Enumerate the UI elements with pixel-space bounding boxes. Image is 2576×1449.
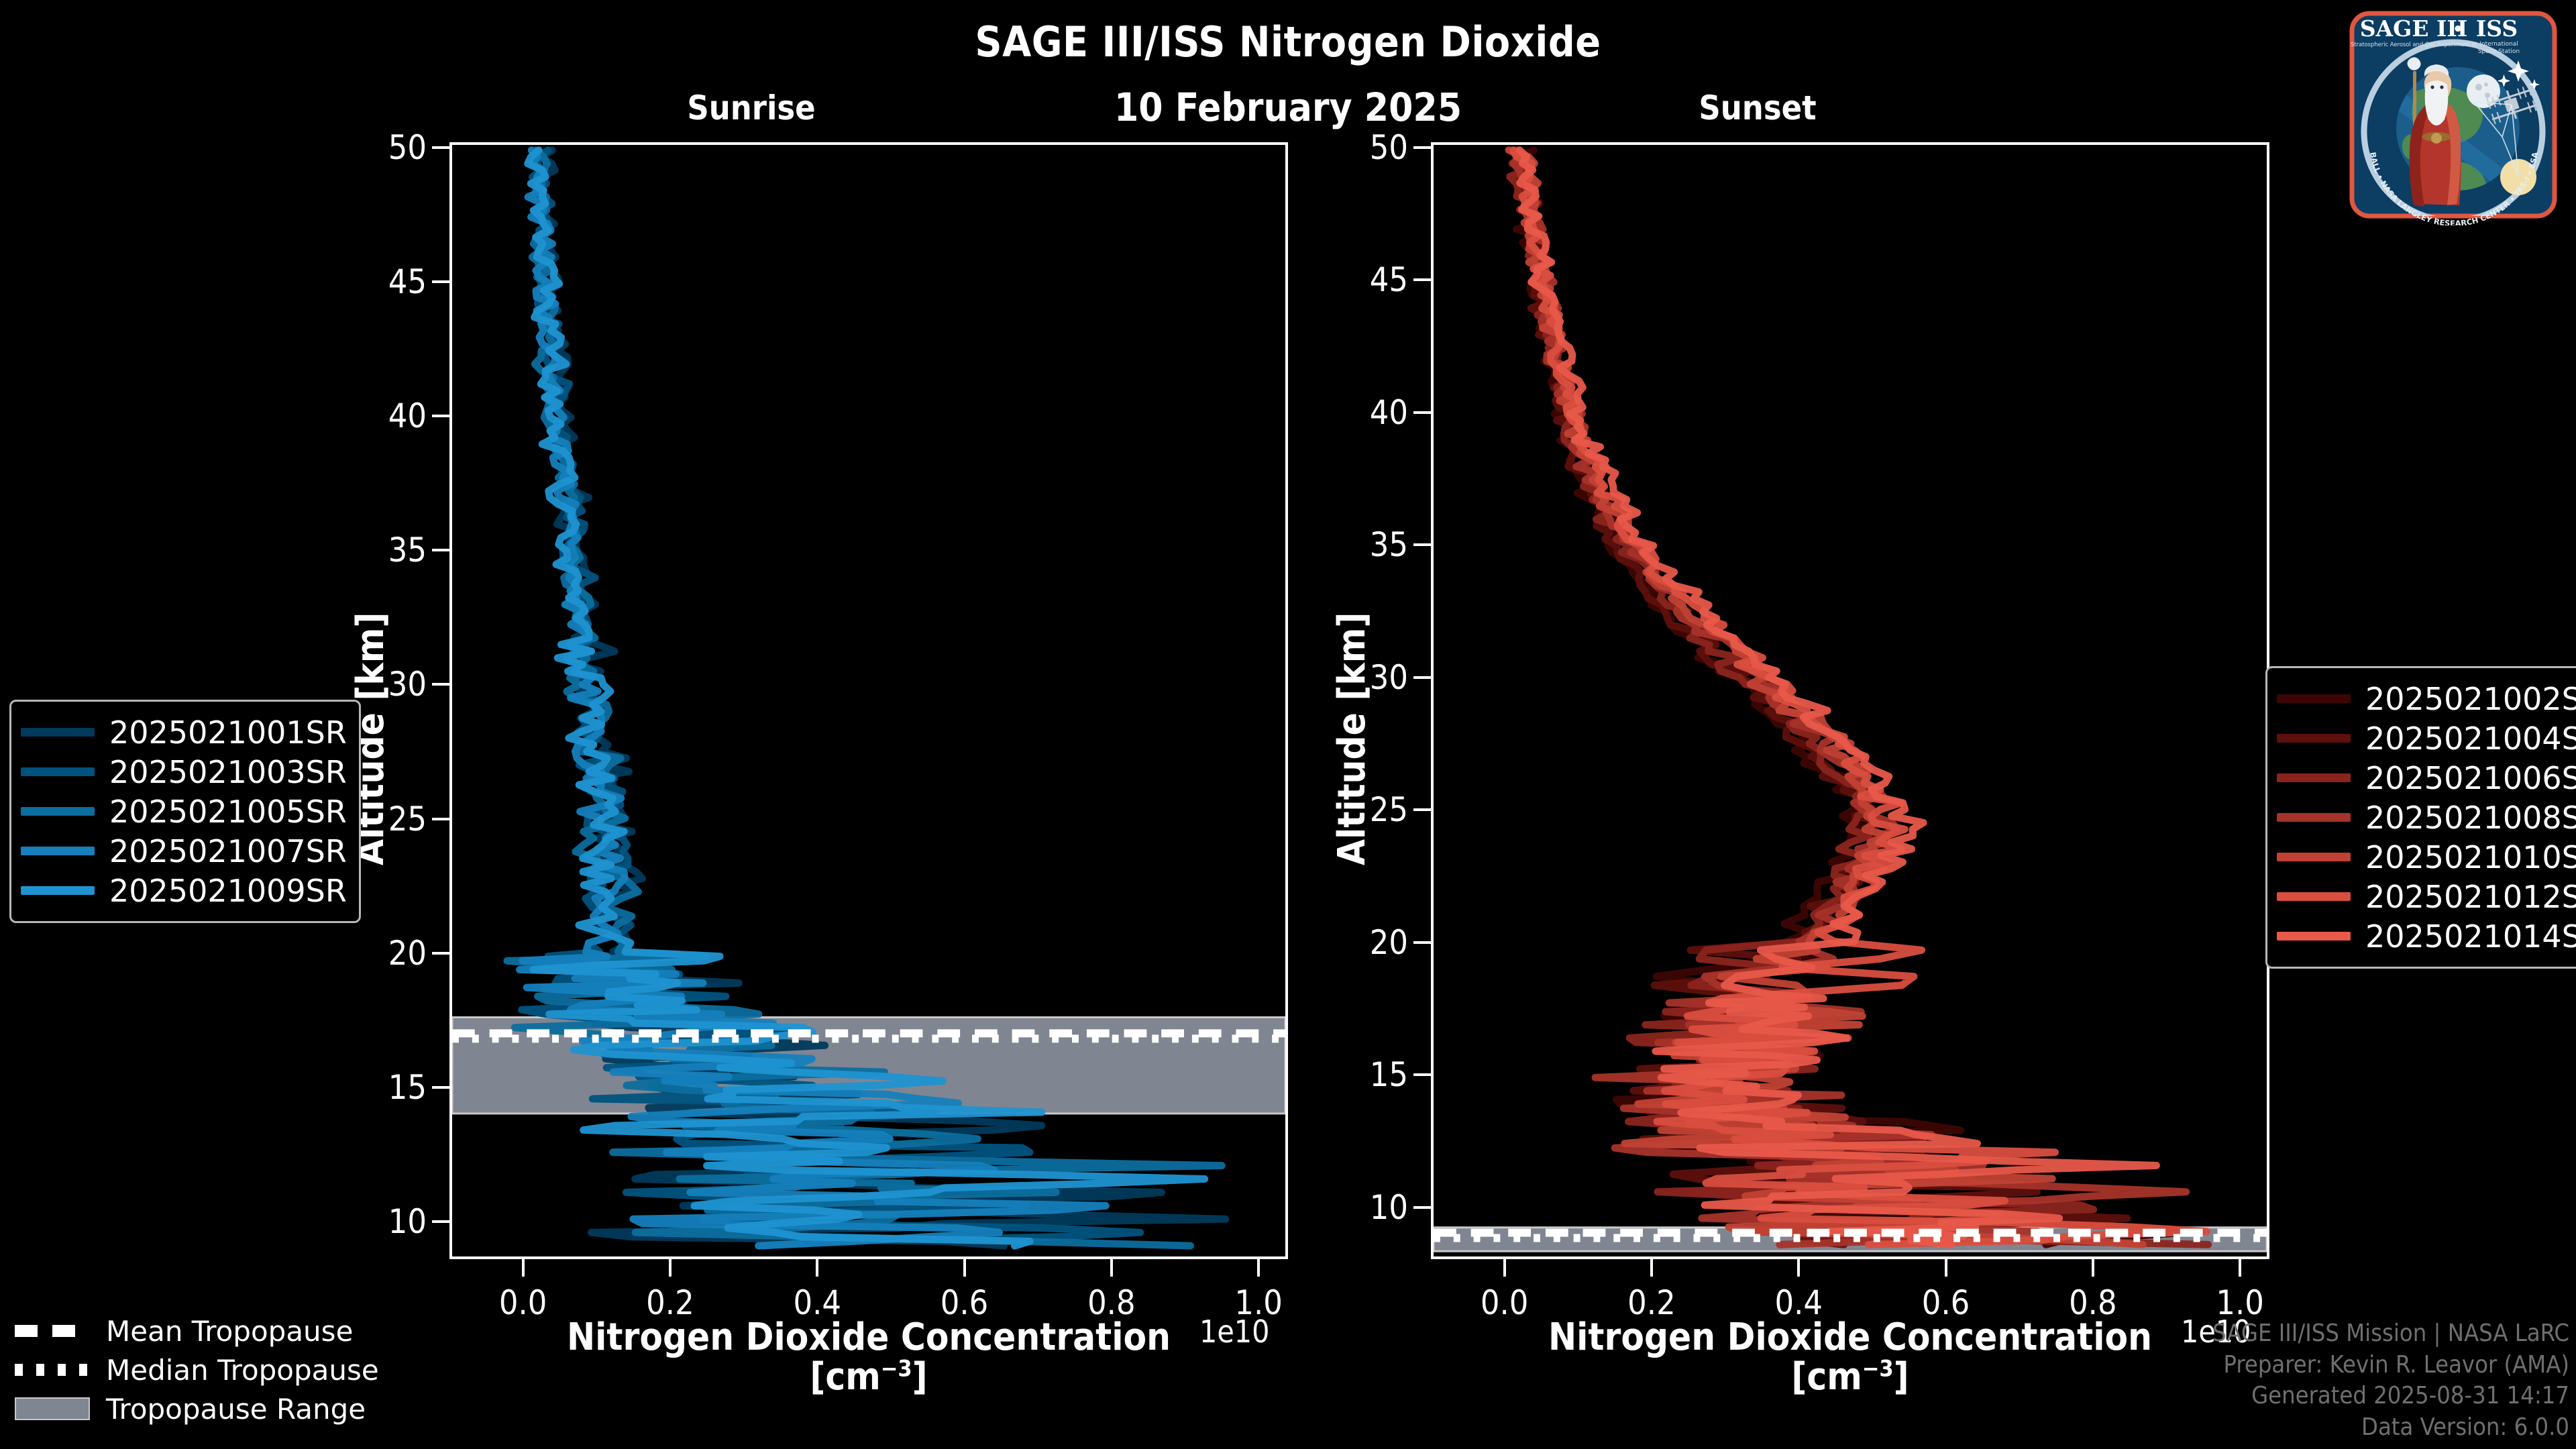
y-tick <box>432 1220 449 1223</box>
y-tick <box>432 1086 449 1089</box>
sunrise-x-axis-units: [cm−3] <box>810 1355 927 1399</box>
y-tick <box>1413 278 1431 281</box>
x-tick-label: 0.0 <box>499 1283 547 1322</box>
x-tick <box>963 1259 966 1277</box>
svg-text:•: • <box>2453 19 2464 40</box>
x-tick <box>2092 1259 2094 1277</box>
sunrise-subtitle: Sunrise <box>631 89 872 127</box>
legend-item[interactable]: 2025021012SS <box>2277 877 2576 916</box>
legend-item-label: 2025021009SR <box>109 873 347 909</box>
y-tick-label: 35 <box>1370 525 1408 564</box>
legend-item[interactable]: 2025021004SS <box>2277 718 2576 758</box>
y-tick-label: 30 <box>388 665 427 704</box>
x-tick <box>816 1259 818 1277</box>
y-tick-label: 15 <box>388 1068 427 1107</box>
legend-item-label: 2025021003SR <box>109 754 347 790</box>
svg-text:ISS: ISS <box>2476 15 2518 42</box>
y-tick <box>1413 941 1431 944</box>
legend-item[interactable]: 2025021002SS <box>2277 679 2576 718</box>
tropopause-band-swatch <box>15 1397 90 1420</box>
tropopause-legend[interactable]: Mean Tropopause Median Tropopause Tropop… <box>15 1311 379 1428</box>
y-tick <box>1413 411 1431 414</box>
sunrise-x-axis-label: Nitrogen Dioxide Concentration [cm−3] <box>449 1318 1288 1397</box>
legend-item-label: 2025021002SS <box>2365 681 2576 717</box>
legend-color-swatch <box>21 728 95 737</box>
legend-item[interactable]: 2025021001SR <box>21 712 347 752</box>
sunset-axis-ticks: 10 15 20 25 30 35 40 45 50 0.0 0.2 0.4 0… <box>1431 142 2269 1259</box>
x-tick <box>1110 1259 1113 1277</box>
y-tick <box>432 952 449 955</box>
legend-item-label: 2025021006SS <box>2365 760 2576 796</box>
sunset-y-axis-label: Altitude [km] <box>1330 612 1374 865</box>
x-tick <box>1257 1259 1260 1277</box>
svg-text:Stratospheric Aerosol and Gas: Stratospheric Aerosol and Gas Experiment… <box>2351 41 2477 48</box>
y-tick-label: 30 <box>1370 658 1408 697</box>
legend-color-swatch <box>21 886 95 895</box>
legend-color-swatch <box>2277 694 2351 703</box>
page-title: SAGE III/ISS Nitrogen Dioxide <box>0 17 2576 66</box>
y-tick <box>1413 1073 1431 1076</box>
legend-item-label: 2025021001SR <box>109 714 347 751</box>
y-tick-label: 20 <box>1370 923 1408 962</box>
y-tick <box>1413 543 1431 546</box>
legend-item-label: 2025021012SS <box>2365 879 2576 915</box>
y-tick <box>432 683 449 686</box>
y-tick-label: 35 <box>388 531 427 570</box>
y-tick-label: 20 <box>388 934 427 973</box>
y-tick <box>1413 146 1431 149</box>
y-tick-label: 25 <box>388 800 427 839</box>
tropopause-legend-label: Mean Tropopause <box>106 1315 353 1348</box>
y-tick-label: 50 <box>388 128 427 167</box>
footer-line-preparer: Preparer: Kevin R. Leavor (AMA) <box>2212 1350 2569 1381</box>
x-tick <box>522 1259 525 1277</box>
y-tick-label: 10 <box>1370 1188 1408 1227</box>
legend-item-label: 2025021004SS <box>2365 720 2576 757</box>
svg-text:SAGE III: SAGE III <box>2360 15 2468 42</box>
tropopause-legend-item[interactable]: Mean Tropopause <box>15 1311 379 1350</box>
y-tick <box>1413 676 1431 679</box>
legend-item[interactable]: 2025021010SS <box>2277 837 2576 877</box>
y-tick-label: 25 <box>1370 790 1408 829</box>
legend-item-label: 2025021005SR <box>109 794 347 830</box>
legend-color-swatch <box>2277 734 2351 743</box>
y-tick-label: 10 <box>388 1202 427 1241</box>
legend-item-label: 2025021014SS <box>2365 918 2576 955</box>
y-tick <box>432 280 449 283</box>
x-tick <box>1945 1259 1947 1277</box>
legend-item[interactable]: 2025021009SR <box>21 871 347 910</box>
legend-color-swatch <box>21 807 95 816</box>
y-tick <box>432 549 449 551</box>
legend-color-swatch <box>21 847 95 855</box>
y-tick-label: 50 <box>1370 128 1408 167</box>
legend-item-label: 2025021008SS <box>2365 800 2576 836</box>
footer-line-mission: SAGE III/ISS Mission | NASA LaRC <box>2212 1318 2569 1350</box>
x-tick <box>669 1259 672 1277</box>
date-title: 10 February 2025 <box>0 85 2576 130</box>
tropopause-legend-item[interactable]: Tropopause Range <box>15 1389 379 1428</box>
legend-color-swatch <box>2277 853 2351 861</box>
legend-sunrise[interactable]: 2025021001SR 2025021003SR 2025021005SR 2… <box>9 700 361 923</box>
legend-item[interactable]: 2025021006SS <box>2277 758 2576 798</box>
y-tick <box>1413 1206 1431 1209</box>
tropopause-dashed-swatch <box>15 1325 90 1337</box>
legend-color-swatch <box>2277 932 2351 941</box>
y-tick-label: 40 <box>1370 393 1408 432</box>
tropopause-legend-item[interactable]: Median Tropopause <box>15 1350 379 1389</box>
sunrise-x-axis-label-main: Nitrogen Dioxide Concentration <box>567 1316 1171 1359</box>
legend-item-label: 2025021010SS <box>2365 839 2576 875</box>
tropopause-dotted-swatch <box>15 1364 90 1376</box>
sunset-subtitle: Sunset <box>1637 89 1878 127</box>
y-tick-label: 15 <box>1370 1055 1408 1094</box>
x-tick <box>2239 1259 2241 1277</box>
sunset-x-axis-label: Nitrogen Dioxide Concentration [cm−3] <box>1431 1318 2269 1397</box>
svg-text:Space Station: Space Station <box>2478 48 2520 55</box>
sage-iii-iss-mission-patch-icon: BALL • NASA LANGLEY RESEARCH CENTER • TA… <box>2343 4 2564 225</box>
tropopause-legend-label: Median Tropopause <box>106 1354 379 1387</box>
x-tick <box>1503 1259 1506 1277</box>
legend-color-swatch <box>2277 773 2351 782</box>
y-tick <box>1413 808 1431 811</box>
legend-color-swatch <box>2277 892 2351 901</box>
legend-item[interactable]: 2025021007SR <box>21 831 347 871</box>
legend-item[interactable]: 2025021005SR <box>21 792 347 831</box>
footer-line-version: Data Version: 6.0.0 <box>2212 1412 2569 1444</box>
legend-item-label: 2025021007SR <box>109 833 347 869</box>
legend-item[interactable]: 2025021003SR <box>21 752 347 792</box>
tropopause-legend-label: Tropopause Range <box>106 1393 366 1426</box>
y-tick <box>432 146 449 149</box>
footer-line-generated: Generated 2025-08-31 14:17 <box>2212 1381 2569 1412</box>
y-tick <box>432 415 449 417</box>
legend-color-swatch <box>2277 813 2351 822</box>
x-tick <box>1797 1259 1800 1277</box>
legend-item[interactable]: 2025021008SS <box>2277 798 2576 837</box>
y-tick-label: 45 <box>1370 260 1408 299</box>
legend-sunset[interactable]: 2025021002SS 2025021004SS 2025021006SS 2… <box>2265 666 2576 969</box>
sunset-x-axis-label-main: Nitrogen Dioxide Concentration <box>1548 1316 2152 1359</box>
sunrise-axis-ticks: 10 15 20 25 30 35 40 45 50 0.0 0.2 0.4 0… <box>449 142 1288 1259</box>
x-tick-label: 0.0 <box>1481 1283 1529 1322</box>
legend-color-swatch <box>21 767 95 776</box>
y-tick <box>432 818 449 820</box>
sunset-x-axis-units: [cm−3] <box>1791 1355 1909 1399</box>
y-tick-label: 45 <box>388 262 427 301</box>
y-tick-label: 40 <box>388 396 427 435</box>
legend-item[interactable]: 2025021014SS <box>2277 916 2576 956</box>
footer-credits: SAGE III/ISS Mission | NASA LaRC Prepare… <box>2212 1318 2569 1444</box>
x-tick <box>1650 1259 1653 1277</box>
svg-text:International: International <box>2479 41 2518 48</box>
sunrise-x-axis-offset: 1e10 <box>1199 1313 1269 1350</box>
